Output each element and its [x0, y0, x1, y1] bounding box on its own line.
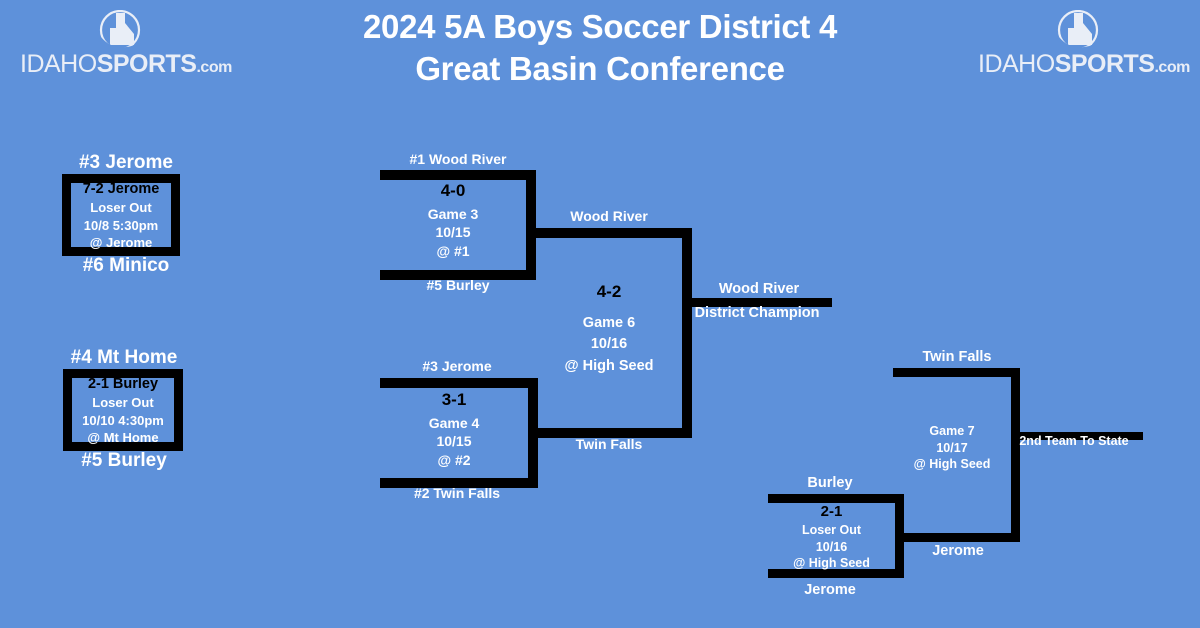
playin-2-detail: 2-1 Burley Loser Out 10/10 4:30pm @ Mt H… [63, 375, 183, 446]
game-4-date: 10/15 [380, 432, 528, 451]
game-5-site: @ High Seed [768, 555, 895, 572]
game-7-bottom-line [900, 533, 1020, 542]
title-line-2: Great Basin Conference [230, 48, 970, 90]
playin-1-bottom-team: #6 Minico [83, 255, 170, 277]
logo-word-idaho: IDAHO [20, 50, 97, 78]
logo-idahosports-right[interactable]: IDAHOSPORTS.com [978, 10, 1178, 88]
playin-2-bottom-team: #5 Burley [81, 450, 167, 472]
game-5-date: 10/16 [768, 539, 895, 556]
logo-suffix: .com [1154, 59, 1189, 76]
title-line-1: 2024 5A Boys Soccer District 4 [230, 6, 970, 48]
game-7-date: 10/17 [893, 440, 1011, 457]
logo-word-sports: SPORTS [97, 50, 197, 78]
game-7-right-line [1011, 368, 1020, 542]
game-3-top-line [380, 170, 536, 180]
game-6-name: Game 6 [534, 313, 684, 335]
game-4-score: 3-1 [380, 389, 528, 412]
game-5-bottom-team: Jerome [804, 582, 856, 598]
game-5-top-team: Burley [807, 475, 852, 491]
playin-2-site: @ Mt Home [63, 429, 183, 446]
game-4-name: Game 4 [380, 414, 528, 433]
game-6-bottom-team: Twin Falls [576, 436, 643, 452]
logo-word-idaho: IDAHO [978, 50, 1055, 78]
district-champion-note: District Champion [695, 305, 820, 321]
game-3-score: 4-0 [380, 180, 526, 203]
game-7-detail: Game 7 10/17 @ High Seed [893, 423, 1011, 473]
game-5-note: Loser Out [768, 522, 895, 539]
logo-wordmark-right: IDAHOSPORTS.com [978, 52, 1178, 77]
game-4-bottom-team: #2 Twin Falls [414, 485, 500, 501]
playin-2-date: 10/10 4:30pm [63, 412, 183, 429]
game-7-top-team: Twin Falls [922, 349, 991, 365]
game-7-site: @ High Seed [893, 456, 1011, 473]
game-6-date: 10/16 [534, 334, 684, 356]
idaho-state-outline-icon [1053, 10, 1103, 52]
game-7-top-line [893, 368, 1020, 377]
game-4-detail: 3-1 Game 4 10/15 @ #2 [380, 389, 528, 469]
district-champion-team: Wood River [719, 281, 799, 297]
game-7-bottom-team: Jerome [932, 543, 984, 559]
game-3-right-line [526, 170, 536, 280]
game-3-detail: 4-0 Game 3 10/15 @ #1 [380, 180, 526, 260]
playin-1-top-team: #3 Jerome [79, 152, 173, 174]
playin-1-site: @ Jerome [62, 234, 180, 251]
playin-1-detail: 7-2 Jerome Loser Out 10/8 5:30pm @ Jerom… [62, 180, 180, 251]
game-7-name: Game 7 [893, 423, 1011, 440]
logo-idahosports-left[interactable]: IDAHOSPORTS.com [20, 10, 220, 88]
logo-suffix: .com [196, 59, 231, 76]
game-3-bottom-team: #5 Burley [426, 277, 489, 293]
game-4-site: @ #2 [380, 451, 528, 470]
game-6-detail: 4-2 Game 6 10/16 @ High Seed [534, 279, 684, 378]
playin-1-date: 10/8 5:30pm [62, 217, 180, 234]
bracket-canvas: IDAHOSPORTS.com 2024 5A Boys Soccer Dist… [0, 0, 1200, 628]
page-title: 2024 5A Boys Soccer District 4 Great Bas… [230, 6, 970, 90]
idaho-state-outline-icon [95, 10, 145, 52]
game-3-date: 10/15 [380, 223, 526, 242]
playin-2-top-team: #4 Mt Home [71, 347, 178, 369]
game-3-site: @ #1 [380, 242, 526, 261]
game-6-site: @ High Seed [534, 356, 684, 378]
game-4-top-line [380, 378, 538, 388]
playin-2-score: 2-1 Burley [63, 375, 183, 394]
playin-1-score: 7-2 Jerome [62, 180, 180, 199]
game-5-score: 2-1 [768, 502, 895, 522]
game-5-detail: 2-1 Loser Out 10/16 @ High Seed [768, 502, 895, 572]
playin-2-note: Loser Out [63, 394, 183, 411]
game-3-name: Game 3 [380, 205, 526, 224]
game-3-top-team: #1 Wood River [410, 151, 507, 167]
logo-word-sports: SPORTS [1055, 50, 1155, 78]
playin-1-note: Loser Out [62, 199, 180, 216]
game-6-top-team: Wood River [570, 208, 648, 224]
second-team-note: 2nd Team To State [1019, 434, 1128, 448]
game-4-top-team: #3 Jerome [422, 358, 491, 374]
game-6-score: 4-2 [534, 279, 684, 305]
game-6-top-line [532, 228, 692, 238]
logo-wordmark-left: IDAHOSPORTS.com [20, 52, 220, 77]
